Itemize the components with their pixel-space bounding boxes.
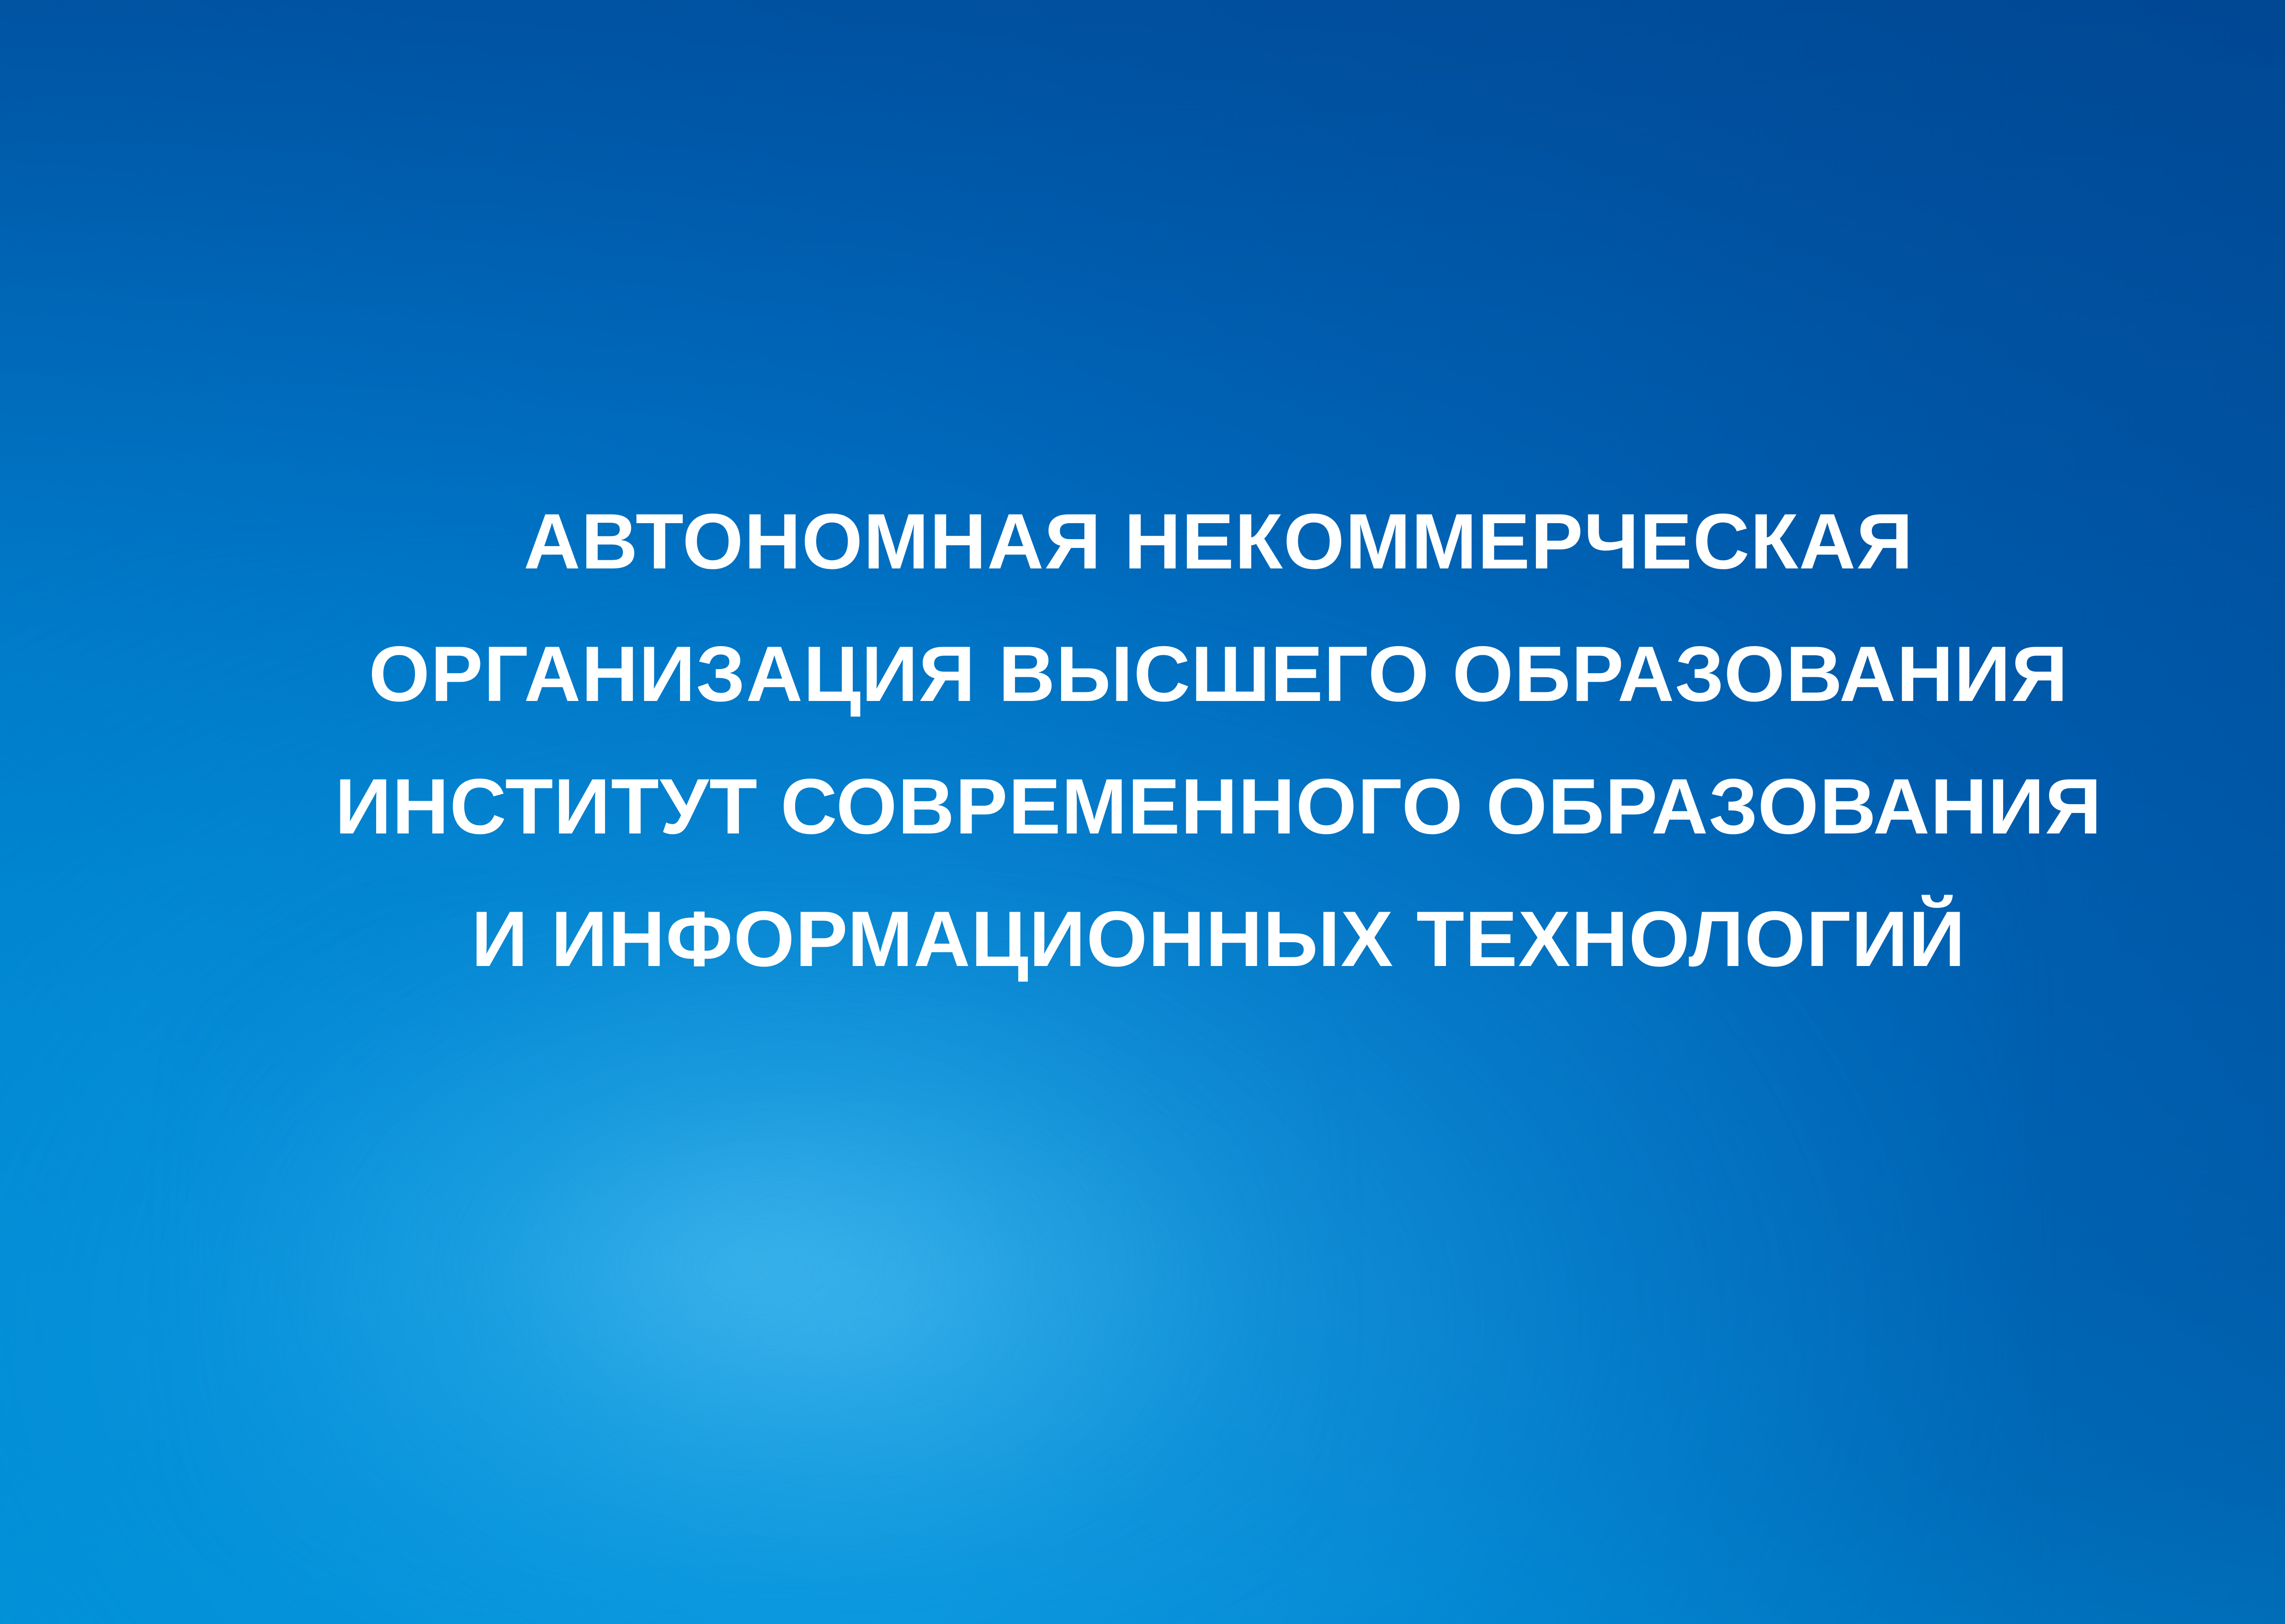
title-line-1: АВТОНОМНАЯ НЕКОММЕРЧЕСКАЯ (0, 475, 2285, 608)
page-title: АВТОНОМНАЯ НЕКОММЕРЧЕСКАЯ ОРГАНИЗАЦИЯ ВЫ… (0, 475, 2285, 1005)
title-line-2: ОРГАНИЗАЦИЯ ВЫСШЕГО ОБРАЗОВАНИЯ (0, 608, 2285, 740)
title-line-3: ИНСТИТУТ СОВРЕМЕННОГО ОБРАЗОВАНИЯ (0, 740, 2285, 873)
title-line-4: И ИНФОРМАЦИОННЫХ ТЕХНОЛОГИЙ (0, 873, 2285, 1005)
title-slide: АВТОНОМНАЯ НЕКОММЕРЧЕСКАЯ ОРГАНИЗАЦИЯ ВЫ… (0, 0, 2285, 1624)
